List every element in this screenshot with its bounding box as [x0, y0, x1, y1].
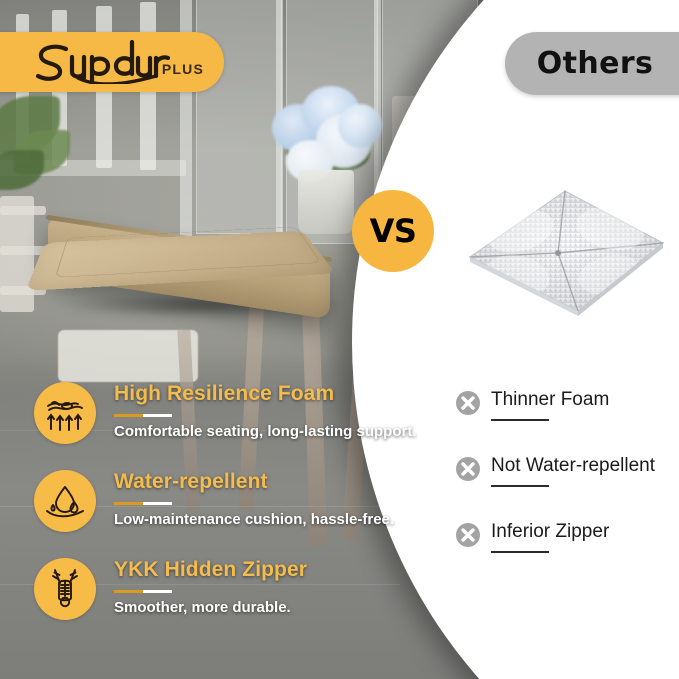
- feature-divider: [114, 414, 172, 417]
- drawback-label: Inferior Zipper: [491, 521, 609, 543]
- feature-subtitle: Smoother, more durable.: [114, 599, 291, 616]
- feature-divider: [114, 502, 172, 505]
- feature-subtitle: Comfortable seating, long-lasting suppor…: [114, 423, 417, 440]
- drawback-list: Thinner Foam Not Water-repellent Inferio…: [455, 390, 679, 588]
- logo-plus-label: PLUS: [162, 61, 204, 77]
- hand-press-foam-rebound-icon: [34, 382, 96, 444]
- product-cushion-theirs: [458, 183, 673, 318]
- versus-label: VS: [370, 212, 417, 250]
- feature-item: High Resilience Foam Comfortable seating…: [34, 378, 374, 466]
- feature-list: High Resilience Foam Comfortable seating…: [34, 378, 374, 642]
- product-cushion-ours: [22, 178, 352, 318]
- drawback-divider: [491, 551, 549, 553]
- feature-item: Water-repellent Low-maintenance cushion,…: [34, 466, 374, 554]
- x-circle-icon: [455, 522, 481, 548]
- zipper-icon: [34, 558, 96, 620]
- brand-logo-pill: PLUS: [0, 32, 224, 92]
- feature-subtitle: Low-maintenance cushion, hassle-free.: [114, 511, 394, 528]
- drawback-divider: [491, 419, 549, 421]
- supdur-script-logo: PLUS: [32, 40, 202, 84]
- feature-title: YKK Hidden Zipper: [114, 558, 307, 582]
- drawback-divider: [491, 485, 549, 487]
- versus-badge: VS: [352, 190, 434, 272]
- drawback-label: Not Water-repellent: [491, 455, 655, 477]
- infographic-canvas: PLUS Others VS: [0, 0, 679, 679]
- x-circle-icon: [455, 390, 481, 416]
- water-droplet-repel-icon: [34, 470, 96, 532]
- feature-title: High Resilience Foam: [114, 382, 334, 406]
- drawback-item: Inferior Zipper: [455, 522, 679, 588]
- drawback-item: Not Water-repellent: [455, 456, 679, 522]
- drawback-item: Thinner Foam: [455, 390, 679, 456]
- feature-divider: [114, 590, 172, 593]
- feature-item: YKK Hidden Zipper Smoother, more durable…: [34, 554, 374, 642]
- competitor-label-pill: Others: [505, 32, 679, 95]
- feature-title: Water-repellent: [114, 470, 268, 494]
- x-circle-icon: [455, 456, 481, 482]
- competitor-label: Others: [537, 46, 654, 81]
- drawback-label: Thinner Foam: [491, 389, 609, 411]
